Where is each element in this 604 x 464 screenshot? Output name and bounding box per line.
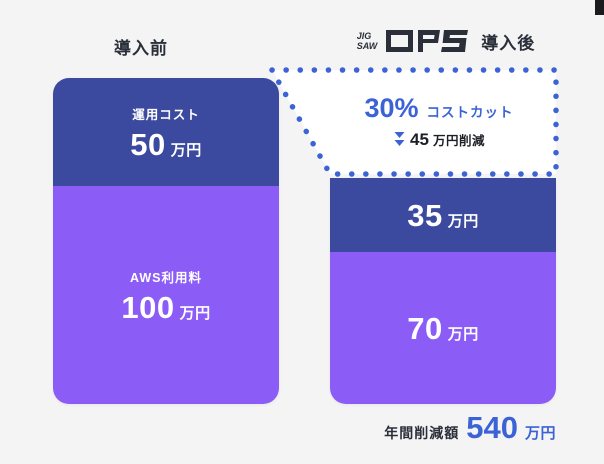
cost-cut-callout: 30% コストカット 45 万円削減 — [268, 66, 560, 178]
before-cost-bar: 運用コスト 50 万円 AWS利用料 100 万円 — [53, 78, 279, 404]
before-operations-value: 50 万円 — [130, 129, 202, 160]
annual-savings-label: 年間削減額 — [384, 423, 459, 443]
jigsaw-wordmark: JIG SAW — [357, 31, 378, 51]
savings-number: 45 — [410, 131, 429, 148]
before-operations-label: 運用コスト — [132, 104, 200, 123]
after-aws-value: 70 万円 — [407, 313, 479, 344]
cost-cut-line: 30% コストカット — [364, 95, 513, 122]
ops-logo-icon — [382, 28, 474, 54]
header-before: 導入前 — [0, 34, 282, 59]
cost-cut-text: コストカット — [427, 101, 514, 121]
header-after: JIG SAW 導入後 — [296, 28, 596, 54]
after-operations-number: 35 — [407, 200, 442, 231]
before-operations-unit: 万円 — [171, 139, 202, 160]
savings-line: 45 万円削減 — [393, 129, 485, 149]
callout-content: 30% コストカット 45 万円削減 — [330, 78, 548, 166]
jigsaw-line2: SAW — [357, 41, 378, 51]
after-operations-unit: 万円 — [448, 210, 479, 231]
header-after-label: 導入後 — [481, 29, 535, 54]
after-segment-aws: 70 万円 — [330, 252, 556, 404]
before-operations-number: 50 — [130, 129, 165, 160]
before-aws-value: 100 万円 — [121, 292, 210, 323]
before-aws-label: AWS利用料 — [130, 267, 202, 286]
infographic-root: 導入前 JIG SAW — [0, 0, 604, 464]
corner-notch — [595, 0, 604, 15]
after-aws-unit: 万円 — [448, 323, 479, 344]
after-segment-operations: 35 万円 — [330, 178, 556, 252]
annual-savings-number: 540 — [466, 412, 518, 443]
savings-unit: 万円削減 — [433, 130, 485, 149]
after-cost-bar: 35 万円 70 万円 — [330, 178, 556, 404]
double-chevron-down-icon — [393, 129, 406, 149]
cost-cut-percent: 30% — [364, 95, 418, 122]
before-aws-number: 100 — [121, 292, 174, 323]
before-segment-operations: 運用コスト 50 万円 — [53, 78, 279, 186]
after-operations-value: 35 万円 — [407, 200, 479, 231]
annual-savings-unit: 万円 — [525, 422, 556, 443]
jigsaw-ops-logo: JIG SAW — [357, 28, 475, 54]
jigsaw-line1: JIG — [357, 31, 378, 41]
before-aws-unit: 万円 — [180, 302, 211, 323]
annual-savings-total: 年間削減額 540 万円 — [330, 412, 556, 443]
before-segment-aws: AWS利用料 100 万円 — [53, 186, 279, 404]
after-aws-number: 70 — [407, 313, 442, 344]
